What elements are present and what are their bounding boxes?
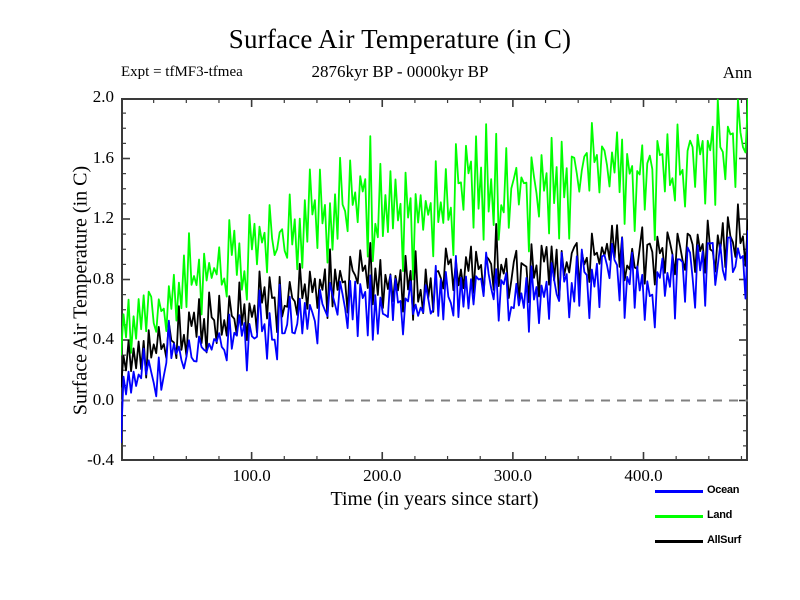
x-tick-label: 400.0 bbox=[604, 466, 684, 486]
legend-label: AllSurf bbox=[707, 534, 741, 546]
page-title: Surface Air Temperature (in C) bbox=[0, 24, 800, 55]
legend-label: Ocean bbox=[707, 484, 739, 496]
y-axis-title: Surface Air Temperature (in C) bbox=[70, 81, 93, 501]
x-axis-ticks: 100.0200.0300.0400.0 bbox=[121, 466, 748, 490]
x-tick-label: 300.0 bbox=[473, 466, 553, 486]
legend-swatch-ocean bbox=[655, 490, 703, 493]
x-tick-label: 100.0 bbox=[212, 466, 292, 486]
chart-legend: OceanLandAllSurf bbox=[655, 484, 795, 559]
plot-canvas bbox=[121, 98, 748, 461]
experiment-label: Expt = tfMF3-tfmea bbox=[121, 64, 243, 81]
legend-label: Land bbox=[707, 509, 732, 521]
legend-item-ocean[interactable]: Ocean bbox=[655, 484, 795, 509]
x-tick-label: 200.0 bbox=[342, 466, 422, 486]
legend-item-allsurf[interactable]: AllSurf bbox=[655, 534, 795, 559]
legend-swatch-land bbox=[655, 515, 703, 518]
x-axis-title: Time (in years since start) bbox=[121, 488, 748, 511]
legend-item-land[interactable]: Land bbox=[655, 509, 795, 534]
legend-swatch-allsurf bbox=[655, 540, 703, 543]
chart-page: Surface Air Temperature (in C) 2876kyr B… bbox=[0, 0, 800, 600]
chart-subtitle: 2876kyr BP - 0000kyr BP bbox=[0, 62, 800, 82]
season-label: Ann bbox=[723, 63, 752, 83]
